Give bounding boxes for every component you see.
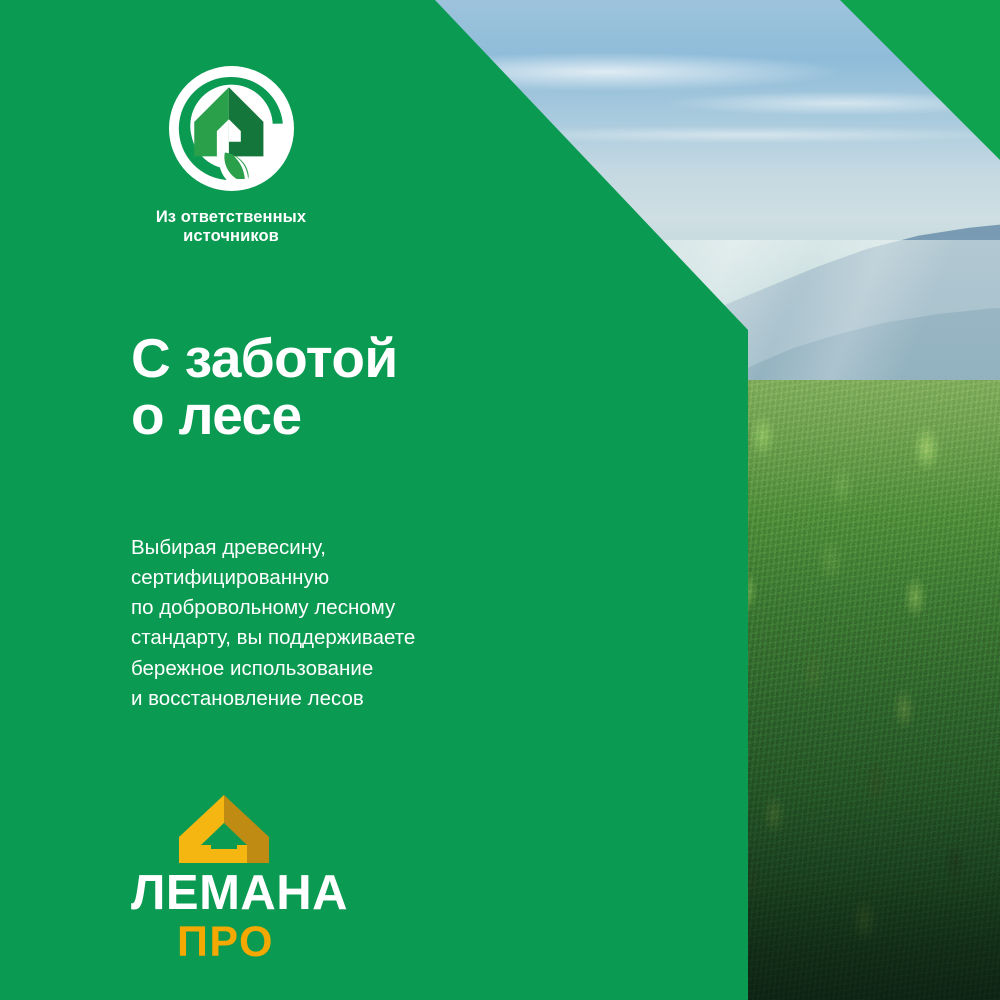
headline: С заботой о лесе [131,330,461,444]
eco-caption-line-2: источников [131,227,331,246]
body-copy-line-2: сертифицированную [131,563,531,593]
responsible-sources-caption: Из ответственных источников [131,208,331,246]
brand-sub: ПРО [177,921,361,964]
body-copy-line-5: бережное использование [131,654,531,684]
headline-line-2: о лесе [131,387,461,444]
poster-canvas: Из ответственных источников С заботой о … [0,0,1000,1000]
responsible-sources-emblem-icon [165,62,298,195]
eco-caption-line-1: Из ответственных [131,208,331,227]
lemana-pro-house-icon [169,793,279,865]
content-column: Из ответственных источников С заботой о … [0,0,435,1000]
lemana-pro-brand-logo: ЛЕМАНА ПРО [131,793,361,964]
brand-name: ЛЕМАНА [131,869,361,918]
body-copy-line-1: Выбирая древесину, [131,533,531,563]
body-copy: Выбирая древесину, сертифицированную по … [131,533,531,714]
headline-line-1: С заботой [131,327,398,389]
body-copy-line-3: по добровольному лесному [131,593,531,623]
body-copy-line-4: стандарту, вы поддерживаете [131,623,531,653]
body-copy-line-6: и восстановление лесов [131,684,531,714]
responsible-sources-badge: Из ответственных источников [131,62,331,246]
